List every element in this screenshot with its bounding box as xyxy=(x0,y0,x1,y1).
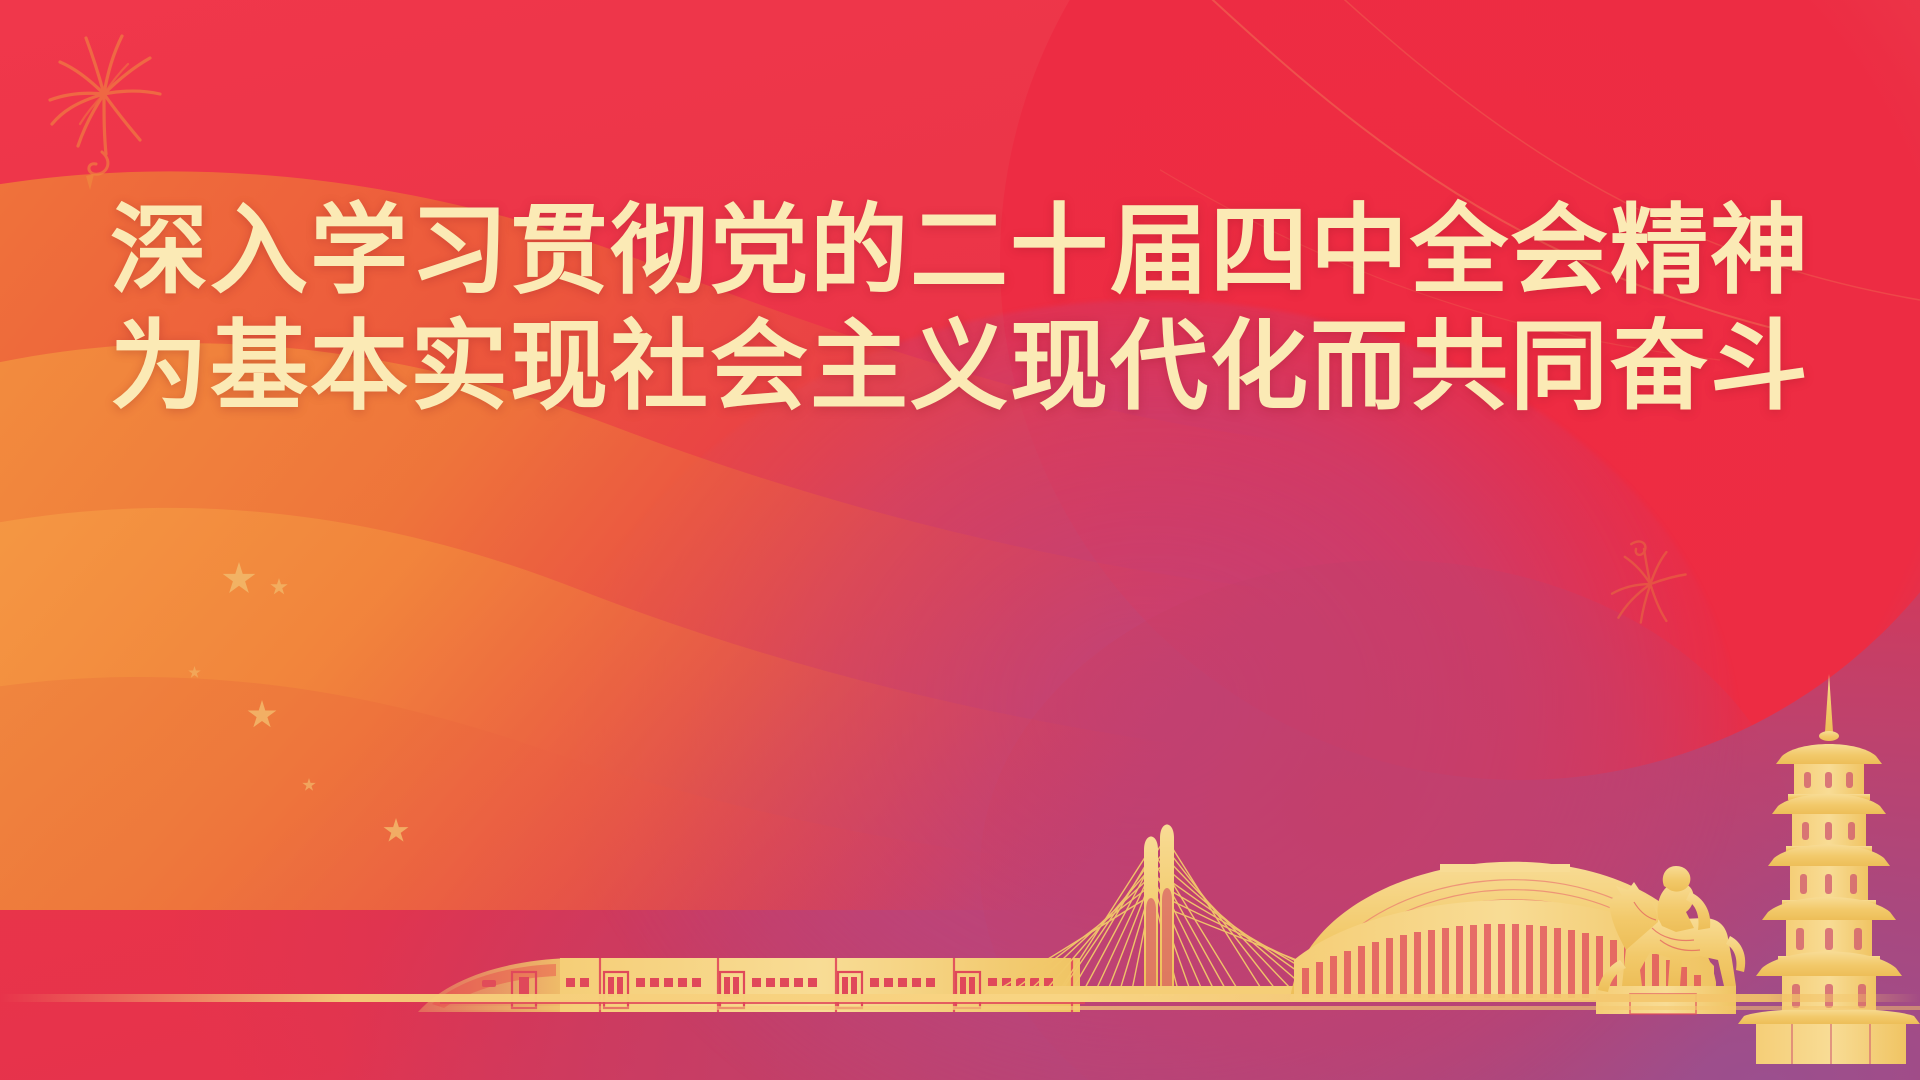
ground-baseline-secondary xyxy=(420,1006,1920,1010)
headline-line-2: 为基本实现社会主义现代化而共同奋斗 xyxy=(0,308,1920,424)
page-title: 深入学习贯彻党的二十届四中全会精神 为基本实现社会主义现代化而共同奋斗 xyxy=(0,192,1920,424)
firework-icon xyxy=(42,24,172,204)
headline-line-1: 深入学习贯彻党的二十届四中全会精神 xyxy=(0,192,1920,308)
firework-icon xyxy=(1604,535,1700,651)
ground-baseline xyxy=(0,994,1920,1002)
poster-canvas: 深入学习贯彻党的二十届四中全会精神 为基本实现社会主义现代化而共同奋斗 xyxy=(0,0,1920,1080)
high-speed-train-icon xyxy=(418,958,1085,1012)
skyline-illustration xyxy=(0,660,1920,1080)
